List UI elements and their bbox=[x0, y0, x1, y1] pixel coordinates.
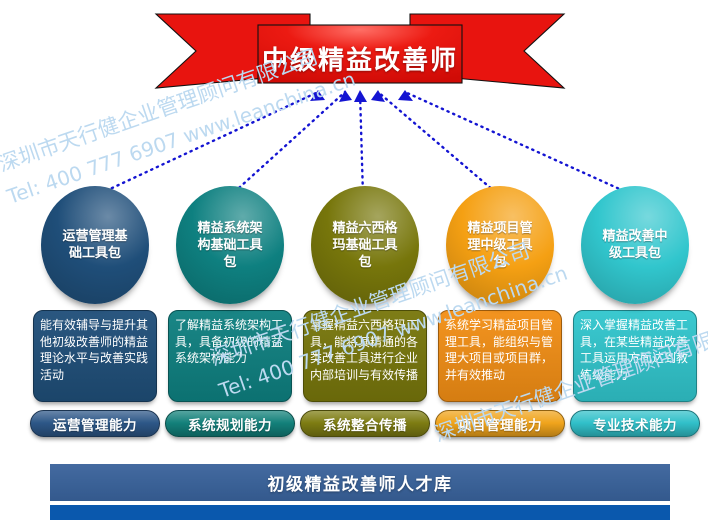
title-banner bbox=[150, 8, 570, 94]
talent-pool-bar-strip bbox=[50, 505, 670, 520]
pill-six-sigma-label: 系统整合传播 bbox=[323, 414, 407, 434]
circle-kaizen[interactable]: 精益改善中级工具包 bbox=[581, 186, 689, 304]
circle-six-sigma[interactable]: 精益六西格玛基础工具包 bbox=[311, 186, 419, 304]
column-operations: 运营管理基础工具包 能有效辅导与提升其他初级改善师的精益理论水平与改善实践活动 … bbox=[20, 186, 170, 437]
pill-lean-system[interactable]: 系统规划能力 bbox=[165, 410, 295, 437]
pill-project-mgmt[interactable]: 项目管理能力 bbox=[435, 410, 565, 437]
pill-six-sigma[interactable]: 系统整合传播 bbox=[300, 410, 430, 437]
circle-operations[interactable]: 运营管理基础工具包 bbox=[41, 186, 149, 304]
circle-lean-system-label: 精益系统架构基础工具包 bbox=[194, 220, 266, 271]
column-six-sigma: 精益六西格玛基础工具包 掌握精益六西格玛工具，能将其精通的各类改善工具进行企业内… bbox=[290, 186, 440, 437]
pill-project-mgmt-label: 项目管理能力 bbox=[458, 414, 542, 434]
talent-pool-bar: 初级精益改善师人才库 bbox=[50, 464, 670, 520]
pill-kaizen[interactable]: 专业技术能力 bbox=[570, 410, 700, 437]
pill-operations-label: 运营管理能力 bbox=[53, 414, 137, 434]
column-project-mgmt: 精益项目管理中级工具包 系统学习精益项目管理工具，能组织与管理大项目或项目群，并… bbox=[425, 186, 575, 437]
column-kaizen: 精益改善中级工具包 深入掌握精益改善工具，在某些精益改善工具运用方面达到教练级能… bbox=[560, 186, 708, 437]
circle-operations-label: 运营管理基础工具包 bbox=[59, 228, 131, 262]
pill-operations[interactable]: 运营管理能力 bbox=[30, 410, 160, 437]
description-six-sigma: 掌握精益六西格玛工具，能将其精通的各类改善工具进行企业内部培训与有效传播 bbox=[303, 310, 427, 402]
circle-lean-system[interactable]: 精益系统架构基础工具包 bbox=[176, 186, 284, 304]
column-lean-system: 精益系统架构基础工具包 了解精益系统架构工具，具备初级的精益系统架构能力 系统规… bbox=[155, 186, 305, 437]
pill-lean-system-label: 系统规划能力 bbox=[188, 414, 272, 434]
pill-kaizen-label: 专业技术能力 bbox=[593, 414, 677, 434]
description-kaizen: 深入掌握精益改善工具，在某些精益改善工具运用方面达到教练级能力 bbox=[573, 310, 697, 402]
diagram-canvas: 深圳市天行健企业管理顾问有限公司 Tel: 400 777 6907 www.l… bbox=[0, 0, 708, 520]
circle-kaizen-label: 精益改善中级工具包 bbox=[599, 228, 671, 262]
circle-project-mgmt[interactable]: 精益项目管理中级工具包 bbox=[446, 186, 554, 304]
talent-pool-label: 初级精益改善师人才库 bbox=[268, 470, 453, 495]
description-operations: 能有效辅导与提升其他初级改善师的精益理论水平与改善实践活动 bbox=[33, 310, 157, 402]
description-lean-system: 了解精益系统架构工具，具备初级的精益系统架构能力 bbox=[168, 310, 292, 402]
circle-project-mgmt-label: 精益项目管理中级工具包 bbox=[464, 220, 536, 271]
description-project-mgmt: 系统学习精益项目管理工具，能组织与管理大项目或项目群，并有效推动 bbox=[438, 310, 562, 402]
talent-pool-bar-main: 初级精益改善师人才库 bbox=[50, 464, 670, 501]
circle-six-sigma-label: 精益六西格玛基础工具包 bbox=[329, 220, 401, 271]
